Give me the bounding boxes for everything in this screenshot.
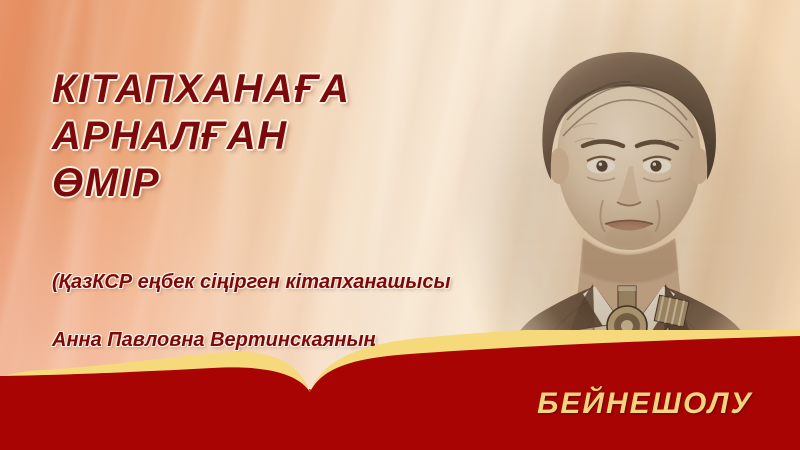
subtitle-line-1: (ҚазКСР еңбек сіңірген кітапханашысы (52, 268, 492, 297)
page-title: КІТАПХАНАҒА АРНАЛҒАН ӨМІР (52, 66, 472, 207)
poster-canvas: КІТАПХАНАҒА АРНАЛҒАН ӨМІР (ҚазКСР еңбек … (0, 0, 800, 450)
banner-label: БЕЙНЕШОЛУ (520, 387, 770, 421)
